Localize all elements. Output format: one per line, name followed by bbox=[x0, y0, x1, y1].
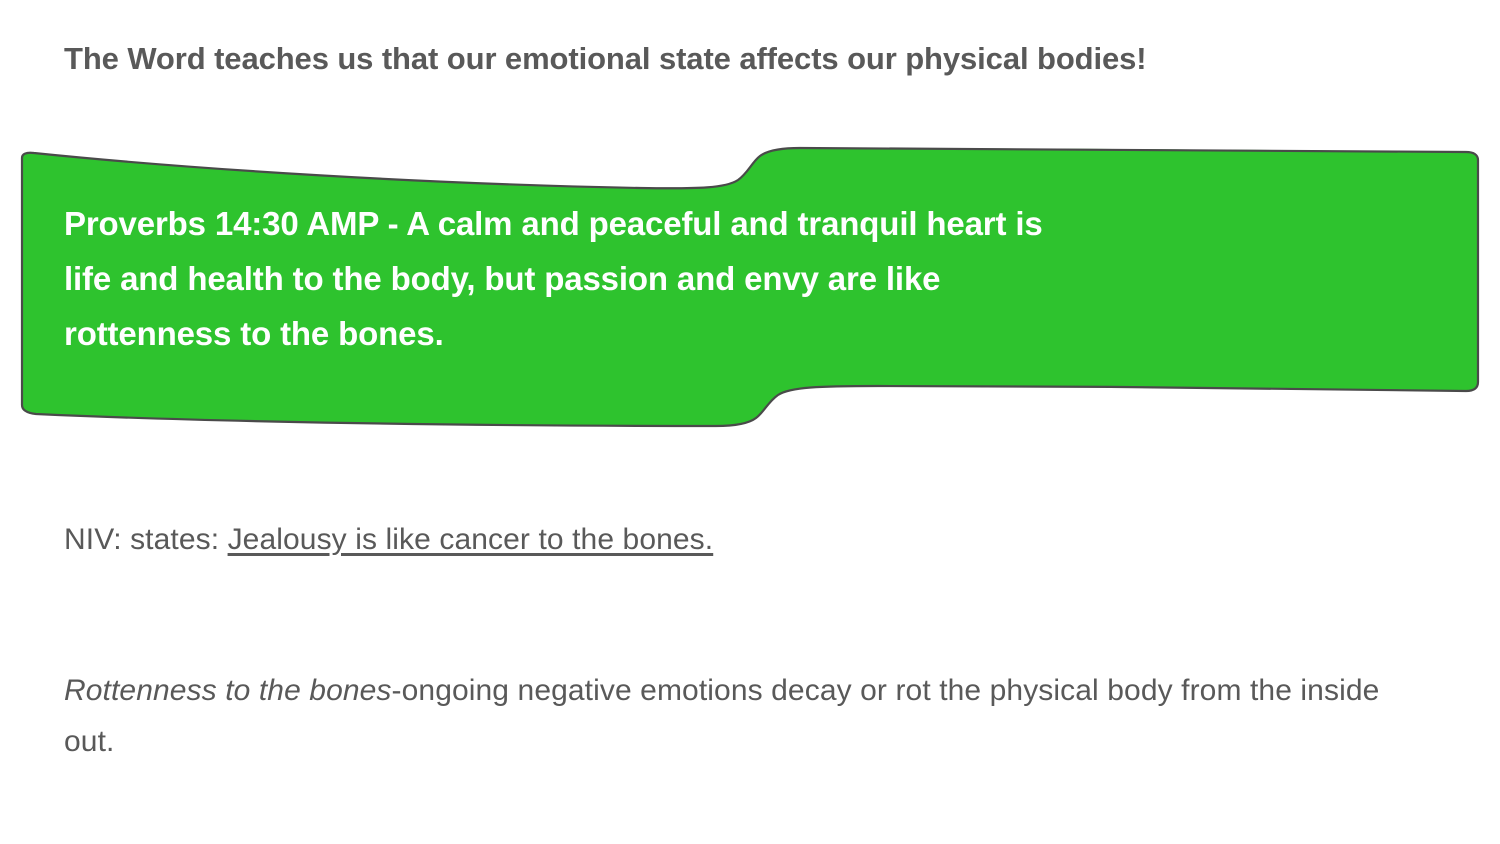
banner-text-line-2: life and health to the body, but passion… bbox=[64, 251, 1454, 306]
definition-term: Rottenness to the bones bbox=[64, 674, 392, 707]
niv-prefix-text: NIV: states: bbox=[64, 523, 228, 556]
niv-reference-line: NIV: states: Jealousy is like cancer to … bbox=[64, 514, 1444, 565]
niv-quote-text: Jealousy is like cancer to the bones. bbox=[228, 523, 714, 556]
scripture-banner: Proverbs 14:30 AMP - A calm and peaceful… bbox=[0, 130, 1500, 430]
banner-text: Proverbs 14:30 AMP - A calm and peaceful… bbox=[64, 196, 1454, 361]
page-title: The Word teaches us that our emotional s… bbox=[64, 40, 1444, 77]
banner-text-line-1: Proverbs 14:30 AMP - A calm and peaceful… bbox=[64, 196, 1454, 251]
banner-text-line-3: rottenness to the bones. bbox=[64, 306, 1454, 361]
slide-canvas: The Word teaches us that our emotional s… bbox=[0, 0, 1500, 844]
definition-paragraph: Rottenness to the bones-ongoing negative… bbox=[64, 665, 1394, 767]
